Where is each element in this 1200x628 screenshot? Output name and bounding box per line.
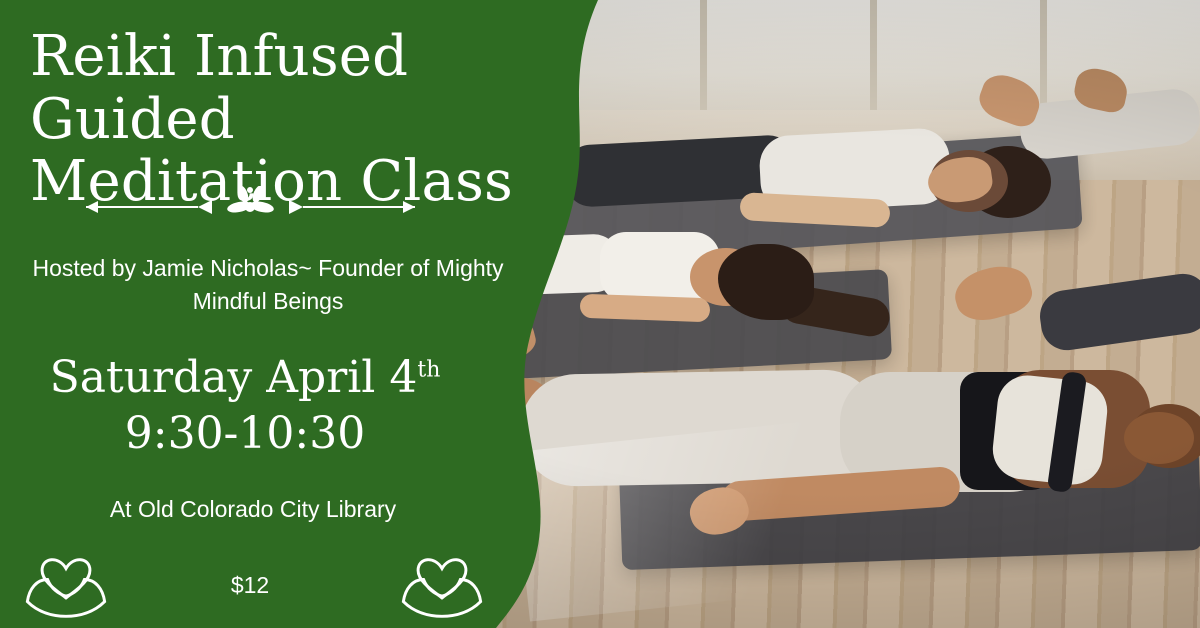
floral-divider-icon xyxy=(78,186,423,228)
date-text: Saturday April 4 xyxy=(50,352,418,403)
event-venue: At Old Colorado City Library xyxy=(18,496,488,523)
event-date: Saturday April 4th 9:30-10:30 xyxy=(20,350,470,463)
host-text: Hosted by Jamie Nicholas~ Founder of Mig… xyxy=(28,252,508,319)
hands-holding-heart-icon xyxy=(20,528,112,620)
hands-holding-heart-icon xyxy=(396,528,488,620)
date-ordinal: th xyxy=(417,357,440,382)
event-flyer: Reiki Infused Guided Meditation Class xyxy=(0,0,1200,628)
event-time: 9:30-10:30 xyxy=(20,406,470,462)
event-price: $12 xyxy=(140,572,360,599)
title-line-1: Reiki Infused Guided xyxy=(30,24,408,152)
